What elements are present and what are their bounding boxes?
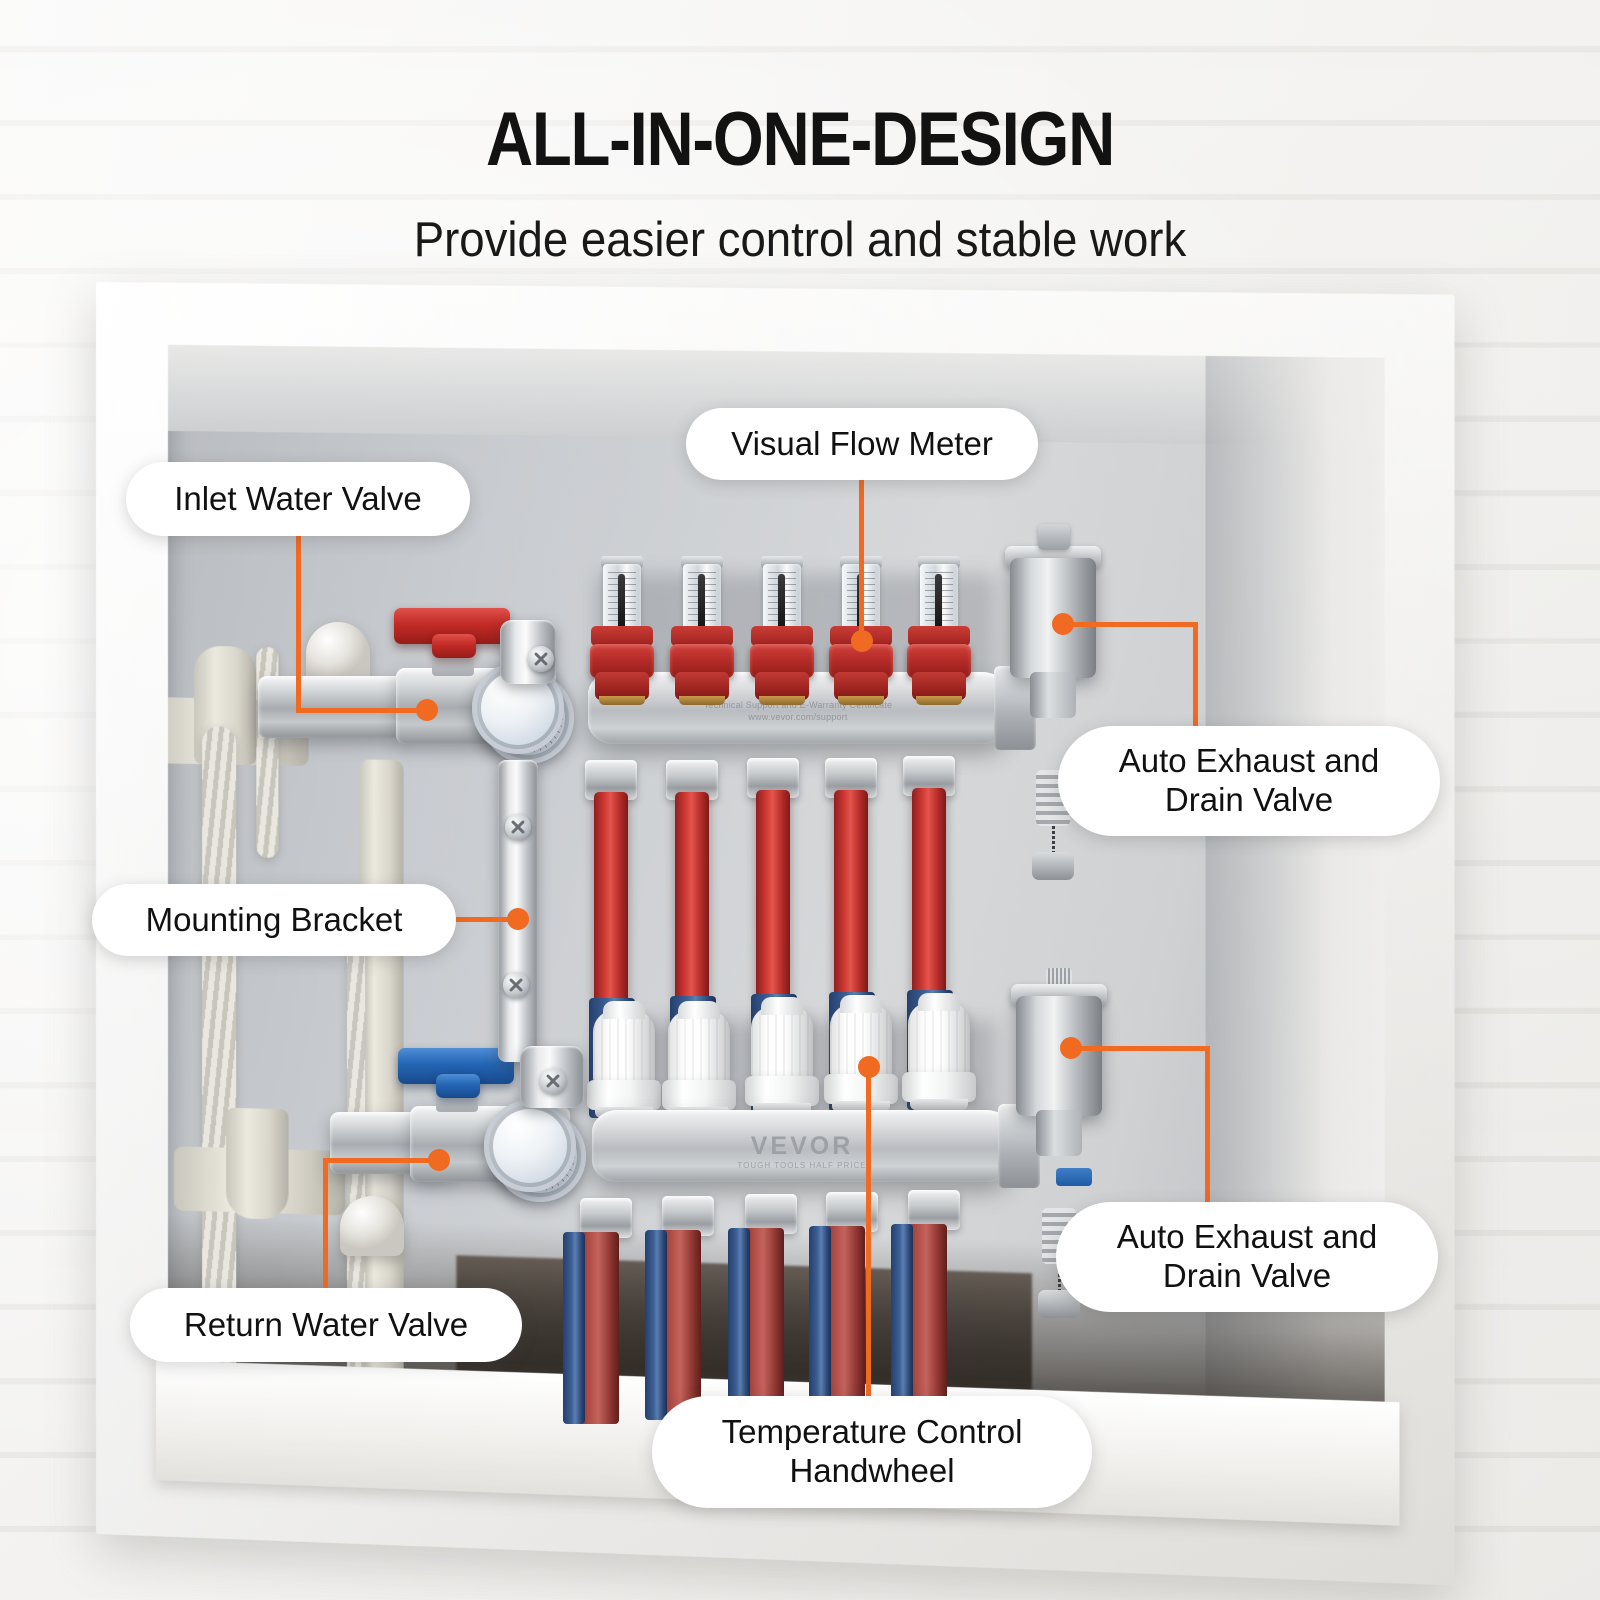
flow-meter-nut	[751, 626, 813, 646]
lead-line-inlet-water-valve	[296, 536, 301, 712]
handwheel-ring	[902, 1072, 976, 1102]
lead-line-auto-exhaust-bottom-h	[1070, 1046, 1210, 1051]
handwheel-ring	[745, 1076, 819, 1106]
bracket-screw-lower-ear	[540, 1068, 566, 1094]
return-blue-jacket-2	[645, 1230, 667, 1420]
lead-dot-inlet-water-valve	[416, 699, 438, 721]
callout-inlet-water-valve: Inlet Water Valve	[126, 462, 470, 536]
lead-line-return-water-valve-h	[323, 1158, 439, 1163]
handwheel-ring	[662, 1080, 736, 1110]
bottom-aev-blue-lever[interactable]	[1056, 1168, 1092, 1186]
handwheel-dome	[593, 1010, 655, 1084]
return-blue-jacket-4	[809, 1226, 831, 1416]
flow-meter-brass-seat	[838, 696, 884, 705]
pex-pipe-3	[756, 790, 790, 1018]
flow-meter-float	[778, 574, 785, 634]
flow-meter-float	[618, 574, 625, 634]
return-white-cap	[340, 1196, 404, 1256]
lead-line-auto-exhaust-bottom-v	[1205, 1046, 1210, 1208]
flow-meter-nut	[591, 626, 653, 646]
brand-logo: VEVOR TOUGH TOOLS HALF PRICE	[592, 1132, 1012, 1170]
callout-return-water-valve: Return Water Valve	[130, 1288, 522, 1362]
wall-bolt-icon	[1038, 524, 1070, 550]
exhaust-valve-neck	[1030, 672, 1076, 718]
page-title: ALL-IN-ONE-DESIGN	[112, 96, 1488, 183]
return-manifold-end-cap	[998, 1104, 1040, 1188]
lead-line-visual-flow-meter	[859, 480, 864, 640]
callout-auto-exhaust-bottom: Auto Exhaust and Drain Valve	[1056, 1202, 1438, 1312]
lead-dot-auto-exhaust-bottom	[1060, 1037, 1082, 1059]
lead-line-temperature-control	[866, 1064, 871, 1402]
lead-dot-auto-exhaust-top	[1052, 613, 1074, 635]
callout-label: Visual Flow Meter	[731, 425, 993, 464]
flow-meter-brass-seat	[599, 696, 645, 705]
return-manifold-bar: VEVOR TOUGH TOOLS HALF PRICE	[592, 1110, 1012, 1182]
flow-meter-brass-seat	[759, 696, 805, 705]
callout-label: Return Water Valve	[184, 1306, 468, 1345]
inlet-valve-handle-neck	[432, 634, 476, 658]
bracket-screw-top	[505, 814, 531, 840]
return-blue-jacket-5	[891, 1224, 913, 1414]
callout-visual-flow-meter: Visual Flow Meter	[686, 408, 1038, 480]
callout-auto-exhaust-top: Auto Exhaust and Drain Valve	[1058, 726, 1440, 836]
callout-label: Auto Exhaust and Drain Valve	[1117, 1218, 1378, 1296]
handwheel-dome	[751, 1006, 813, 1080]
handwheel-dome	[908, 1002, 970, 1076]
flow-meter-float	[935, 574, 942, 634]
handwheel-base	[910, 1099, 968, 1110]
lead-dot-mounting-bracket	[507, 908, 529, 930]
handwheel-dome	[668, 1010, 730, 1084]
callout-mounting-bracket: Mounting Bracket	[92, 884, 456, 956]
exhaust-valve-canister	[1016, 996, 1102, 1116]
infographic-canvas: ALL-IN-ONE-DESIGN Provide easier control…	[0, 0, 1600, 1600]
handwheel-ring	[587, 1080, 661, 1110]
flow-meter-brass-seat	[679, 696, 725, 705]
handwheel-ring	[824, 1074, 898, 1104]
flow-meter-nut	[908, 626, 970, 646]
flow-meter-brass-seat	[916, 696, 962, 705]
lead-dot-return-water-valve	[428, 1149, 450, 1171]
lead-dot-temperature-control	[858, 1056, 880, 1078]
flow-meter-nut	[671, 626, 733, 646]
return-blue-jacket-3	[728, 1228, 750, 1418]
return-blue-jacket-1	[563, 1232, 585, 1424]
bracket-screw-upper-ear	[528, 646, 554, 672]
bracket-screw-bottom	[503, 972, 529, 998]
return-valve-handle-neck	[436, 1074, 480, 1098]
brand-tagline: TOUGH TOOLS HALF PRICE	[592, 1161, 1012, 1170]
flow-meter-float	[698, 574, 705, 634]
callout-temperature-control: Temperature Control Handwheel	[652, 1396, 1092, 1508]
return-pipe-lower-elbow	[226, 1108, 288, 1220]
lead-line-auto-exhaust-top-v	[1193, 622, 1198, 732]
callout-label: Inlet Water Valve	[174, 480, 422, 519]
pex-pipe-4	[834, 790, 868, 1018]
exhaust-valve-neck	[1036, 1110, 1082, 1156]
callout-label: Temperature Control Handwheel	[722, 1413, 1023, 1491]
page-subtitle: Provide easier control and stable work	[56, 212, 1544, 268]
inlet-valve-inlet-pipe	[258, 676, 404, 738]
pex-pipe-2	[675, 792, 709, 1020]
lead-line-return-water-valve-v	[323, 1158, 328, 1290]
pex-pipe-5	[912, 788, 946, 1018]
lead-line-inlet-water-valve-h	[296, 708, 426, 713]
lead-dot-visual-flow-meter	[851, 630, 873, 652]
lead-line-auto-exhaust-top-h	[1062, 622, 1198, 627]
drain-cap[interactable]	[1032, 852, 1074, 880]
pex-pipe-1	[594, 792, 628, 1022]
callout-label: Mounting Bracket	[146, 901, 403, 940]
callout-label: Auto Exhaust and Drain Valve	[1119, 742, 1380, 820]
gauge-clamp-bottom	[484, 1100, 576, 1192]
